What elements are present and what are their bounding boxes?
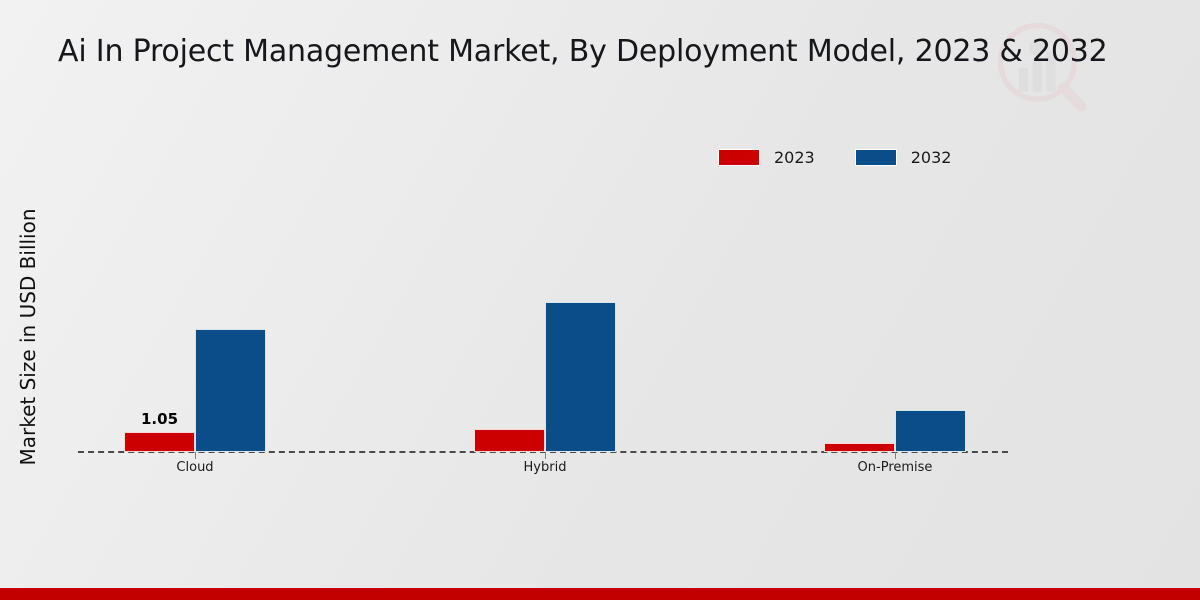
footer-bar <box>0 588 1200 600</box>
x-axis-tick-hybrid <box>545 452 546 459</box>
chart-page: Ai In Project Management Market, By Depl… <box>0 0 1200 600</box>
x-axis-label-hybrid: Hybrid <box>524 460 567 475</box>
bar-on-premise-2032[interactable] <box>895 410 966 452</box>
bar-cloud-2023[interactable] <box>124 432 195 452</box>
x-axis-tick-on-premise <box>895 452 896 459</box>
bar-on-premise-2023[interactable] <box>824 443 895 452</box>
x-axis-tick-cloud <box>195 452 196 459</box>
plot-area: CloudHybridOn-Premise 1.05 <box>0 0 1200 600</box>
x-axis-label-cloud: Cloud <box>176 460 213 475</box>
bar-value-label-cloud-2023: 1.05 <box>141 410 178 428</box>
bar-hybrid-2023[interactable] <box>474 429 545 452</box>
x-axis-label-on-premise: On-Premise <box>858 460 933 475</box>
bar-cloud-2032[interactable] <box>195 329 266 452</box>
bar-hybrid-2032[interactable] <box>545 302 616 452</box>
